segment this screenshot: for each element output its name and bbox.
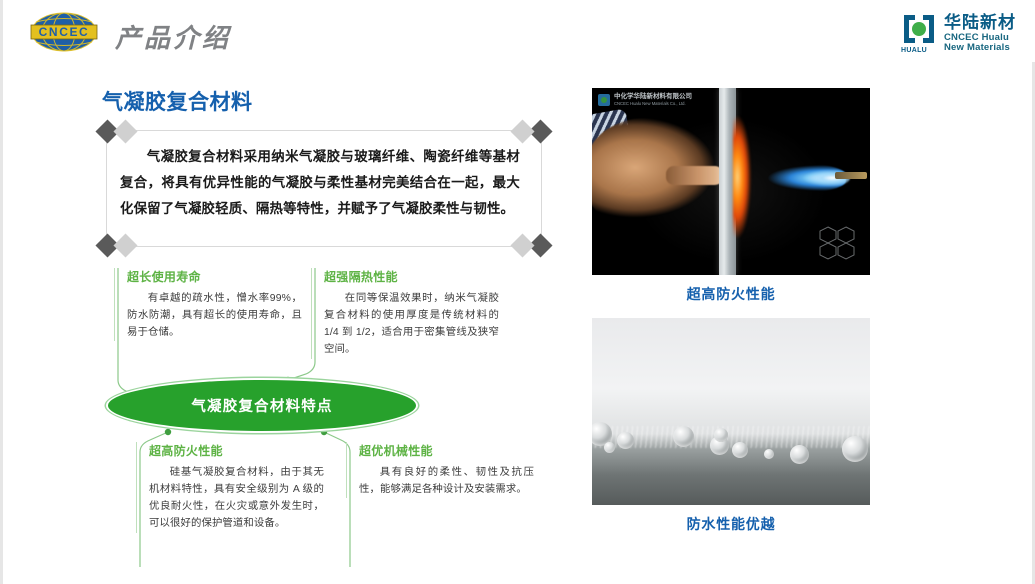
intro-box: 气凝胶复合材料采用纳米气凝胶与玻璃纤维、陶瓷纤维等基材复合，将具有优异性能的气凝… (98, 122, 550, 255)
photo-block-waterproof: 防水性能优越 (592, 318, 870, 534)
section-heading: 气凝胶复合材料 (102, 86, 253, 116)
finger (666, 166, 724, 185)
intro-paragraph: 气凝胶复合材料采用纳米气凝胶与玻璃纤维、陶瓷纤维等基材复合，将具有优异性能的气凝… (120, 144, 520, 222)
water-droplet (842, 436, 868, 462)
photo-caption-waterproof: 防水性能优越 (592, 514, 870, 534)
page-title: 产品介绍 (115, 18, 231, 55)
slide-root: CNCEC 产品介绍 HUALU 华陆新材 CNCEC Hualu New Ma… (0, 0, 1035, 584)
photo-watermark-logo: 中化学华陆新材料有限公司 CNCEC Hualu New Materials C… (598, 94, 692, 106)
water-droplet (617, 432, 634, 449)
hualu-logo: HUALU 华陆新材 CNCEC Hualu New Materials (901, 12, 1016, 54)
water-droplet (790, 445, 809, 464)
water-droplet (764, 449, 774, 459)
diagram-center-ellipse: 气凝胶复合材料特点 (106, 378, 418, 433)
feature-title: 超长使用寿命 (127, 268, 302, 285)
feature-title: 超高防火性能 (149, 442, 324, 459)
hualu-english-line2: New Materials (944, 43, 1016, 53)
cncec-logo: CNCEC (25, 11, 103, 53)
photo-caption-fire: 超高防火性能 (592, 284, 870, 304)
watermark-chinese: 中化学华陆新材料有限公司 (614, 94, 692, 101)
feature-card-fire-resistance: 超高防火性能 硅基气凝胶复合材料，由于其无机材料特性，具有安全级别为 A 级的优… (136, 442, 324, 533)
water-droplet (714, 428, 728, 442)
hualu-english-line1: CNCEC Hualu (944, 33, 1016, 43)
fiber-surface (592, 426, 870, 448)
hualu-mark-icon: HUALU (901, 13, 937, 53)
diagram-center-label: 气凝胶复合材料特点 (191, 395, 332, 416)
hualu-mark-label: HUALU (901, 47, 927, 54)
water-droplet (673, 426, 694, 447)
photo-water-droplets (592, 318, 870, 505)
feature-title: 超强隔热性能 (324, 268, 499, 285)
photo-block-fire-resistance: 中化学华陆新材料有限公司 CNCEC Hualu New Materials C… (592, 88, 870, 304)
torch-nozzle (835, 172, 867, 179)
feature-body: 硅基气凝胶复合材料，由于其无机材料特性，具有安全级别为 A 级的优良耐火性，在火… (149, 464, 324, 533)
cncec-logo-text: CNCEC (39, 25, 90, 39)
feature-title: 超优机械性能 (359, 442, 534, 459)
water-droplet (604, 442, 615, 453)
watermark-english: CNCEC Hualu New Materials Co., Ltd. (614, 102, 692, 106)
feature-card-mechanical-performance: 超优机械性能 具有良好的柔性、韧性及抗压性，能够满足各种设计及安装需求。 (346, 442, 534, 498)
feature-body: 在同等保温效果时，纳米气凝胶复合材料的使用厚度是传统材料的 1/4 到 1/2，… (324, 290, 499, 359)
hualu-chinese-name: 华陆新材 (944, 14, 1016, 31)
photo-watermark-corner-icon (814, 223, 860, 263)
feature-body: 有卓越的疏水性，憎水率99%，防水防潮，具有超长的使用寿命，且易于仓储。 (127, 290, 302, 341)
photo-fire-test: 中化学华陆新材料有限公司 CNCEC Hualu New Materials C… (592, 88, 870, 275)
photo-background (592, 318, 870, 505)
feature-card-long-life: 超长使用寿命 有卓越的疏水性，憎水率99%，防水防潮，具有超长的使用寿命，且易于… (114, 268, 302, 341)
feature-body: 具有良好的柔性、韧性及抗压性，能够满足各种设计及安装需求。 (359, 464, 534, 498)
features-diagram: 气凝胶复合材料特点 超长使用寿命 有卓越的疏水性，憎水率99%，防水防潮，具有超… (98, 262, 568, 572)
slide-header: CNCEC 产品介绍 HUALU 华陆新材 CNCEC Hualu New Ma… (3, 0, 1035, 62)
water-droplet (732, 442, 748, 458)
watermark-mark-icon (598, 94, 610, 106)
feature-card-thermal-insulation: 超强隔热性能 在同等保温效果时，纳米气凝胶复合材料的使用厚度是传统材料的 1/4… (311, 268, 499, 359)
